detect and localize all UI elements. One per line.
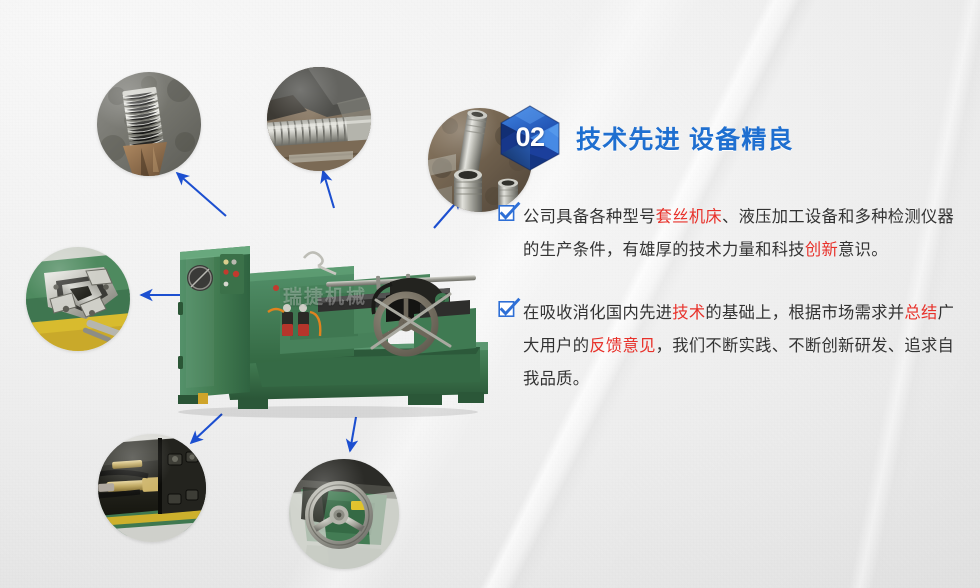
text-segment: 的基础上，根据市场需求并: [705, 303, 904, 322]
text-segment: 公司具备各种型号: [523, 207, 656, 226]
text-segment-highlight: 技术: [672, 303, 705, 322]
callout-handwheel: [289, 459, 399, 569]
feature-bullet-list: 公司具备各种型号套丝机床、液压加工设备和多种检测仪器的生产条件，有雄厚的技术力量…: [498, 200, 968, 395]
text-segment: 在吸收消化国内先进: [523, 303, 672, 322]
section-title: 技术先进 设备精良: [576, 120, 794, 156]
list-item: 公司具备各种型号套丝机床、液压加工设备和多种检测仪器的生产条件，有雄厚的技术力量…: [498, 200, 968, 266]
checkbox-checked-icon: [498, 203, 520, 225]
text-segment: 意识。: [838, 240, 888, 259]
section-number-badge: 02: [498, 104, 562, 172]
text-segment-highlight: 创新: [805, 240, 838, 259]
checkbox-checked-icon: [498, 299, 520, 321]
product-machine-image: 瑞捷机械: [158, 196, 493, 418]
text-segment-highlight: 反馈意见: [589, 336, 655, 355]
callout-hydraulic-fittings: [98, 434, 206, 542]
callout-threaded-rod-closeup: [97, 72, 201, 176]
section-number-text: 02: [498, 104, 562, 172]
callout-cutting-head: [26, 247, 130, 351]
list-item: 在吸收消化国内先进技术的基础上，根据市场需求并总结广大用户的反馈意见，我们不断实…: [498, 296, 968, 395]
arrow-to-handwheel: [350, 417, 356, 451]
text-segment-highlight: 套丝机床: [656, 207, 722, 226]
callout-threaded-bar: [267, 67, 371, 171]
text-content-column: 02 技术先进 设备精良 公司具备各种型号套丝机床、液压加工设备和多种检测仪器的…: [498, 104, 968, 425]
promo-banner: 瑞捷机械: [0, 0, 980, 588]
section-header: 02 技术先进 设备精良: [498, 104, 968, 172]
list-item-text: 公司具备各种型号套丝机床、液压加工设备和多种检测仪器的生产条件，有雄厚的技术力量…: [523, 200, 968, 266]
list-item-text: 在吸收消化国内先进技术的基础上，根据市场需求并总结广大用户的反馈意见，我们不断实…: [523, 296, 968, 395]
text-segment-highlight: 总结: [904, 303, 937, 322]
